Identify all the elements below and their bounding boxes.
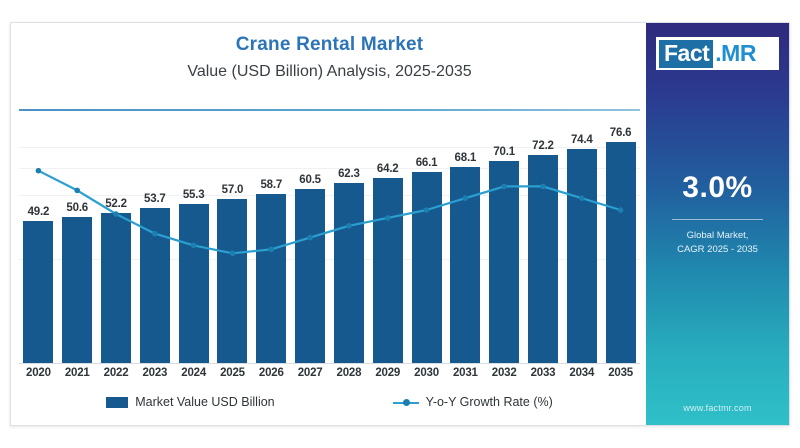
bar-column[interactable] (291, 189, 330, 363)
infographic-root: Crane Rental Market Value (USD Billion) … (0, 0, 800, 448)
bar-column[interactable] (330, 183, 369, 363)
bar-2024[interactable] (179, 204, 209, 363)
bar-2033[interactable] (528, 155, 558, 363)
bar-column[interactable] (524, 155, 563, 363)
x-tick-2035: 2035 (598, 367, 644, 379)
cagr-caption-line1: Global Market, (646, 229, 789, 243)
bar-2026[interactable] (256, 194, 286, 363)
chart-panel: Crane Rental Market Value (USD Billion) … (11, 23, 648, 425)
cagr-divider (672, 219, 763, 220)
bar-column[interactable] (58, 217, 97, 363)
bar-column[interactable] (601, 142, 640, 363)
bar-2022[interactable] (101, 213, 131, 363)
bar-column[interactable] (562, 149, 601, 363)
bar-column[interactable] (252, 194, 291, 363)
bar-2031[interactable] (450, 167, 480, 363)
bar-2023[interactable] (140, 208, 170, 363)
bar-swatch-icon (106, 397, 128, 408)
logo-text-mr: .MR (713, 40, 756, 67)
brand-panel: Fact .MR 3.0% Global Market, CAGR 2025 -… (646, 23, 789, 425)
legend-item-growth-rate[interactable]: Y-o-Y Growth Rate (%) (393, 395, 553, 409)
bar-2020[interactable] (23, 221, 53, 363)
bar-column[interactable] (19, 221, 58, 363)
bar-column[interactable] (368, 178, 407, 363)
line-swatch-icon (393, 397, 419, 408)
bar-column[interactable] (407, 172, 446, 363)
bar-value-label: 76.6 (592, 127, 650, 139)
chart-subtitle: Value (USD Billion) Analysis, 2025-2035 (11, 60, 648, 84)
bar-2032[interactable] (489, 161, 519, 363)
plot-area: 49.250.652.253.755.357.058.760.562.364.2… (19, 119, 640, 364)
bar-2028[interactable] (334, 183, 364, 363)
bar-column[interactable] (213, 199, 252, 363)
legend-item-market-value[interactable]: Market Value USD Billion (106, 395, 274, 409)
bar-column[interactable] (135, 208, 174, 363)
title-divider (19, 109, 640, 111)
title-block: Crane Rental Market Value (USD Billion) … (11, 33, 648, 84)
bar-2027[interactable] (295, 189, 325, 363)
brand-url: www.factmr.com (646, 403, 789, 413)
chart-legend: Market Value USD Billion Y-o-Y Growth Ra… (11, 395, 648, 409)
x-axis: 2020202120222023202420252026202720282029… (19, 367, 640, 387)
bar-2025[interactable] (217, 199, 247, 363)
bar-column[interactable] (446, 167, 485, 363)
cagr-value: 3.0% (646, 171, 789, 205)
bar-column[interactable] (485, 161, 524, 363)
chart-card: Crane Rental Market Value (USD Billion) … (10, 22, 790, 426)
bar-2029[interactable] (373, 178, 403, 363)
cagr-caption: Global Market, CAGR 2025 - 2035 (646, 229, 789, 257)
bar-2034[interactable] (567, 149, 597, 363)
bar-series: 49.250.652.253.755.357.058.760.562.364.2… (19, 119, 640, 364)
bar-2035[interactable] (606, 142, 636, 363)
cagr-caption-line2: CAGR 2025 - 2035 (646, 243, 789, 257)
bar-2030[interactable] (412, 172, 442, 363)
bar-column[interactable] (174, 204, 213, 363)
page-title: Crane Rental Market (11, 33, 648, 57)
logo-text-fact: Fact (659, 40, 713, 68)
legend-label-market-value: Market Value USD Billion (135, 395, 274, 409)
bar-2021[interactable] (62, 217, 92, 363)
bar-column[interactable] (97, 213, 136, 363)
factmr-logo[interactable]: Fact .MR (656, 37, 779, 70)
legend-label-growth-rate: Y-o-Y Growth Rate (%) (426, 395, 553, 409)
